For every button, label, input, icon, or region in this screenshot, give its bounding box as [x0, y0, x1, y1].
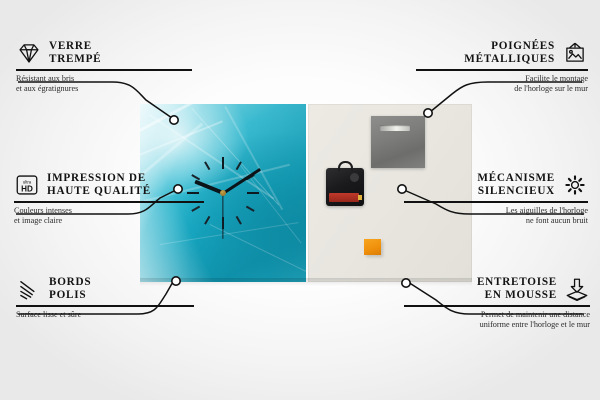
callout-header: MÉCANISME SILENCIEUX — [404, 172, 588, 197]
callout-mecanisme-silencieux: MÉCANISME SILENCIEUX Les aiguilles de l'… — [404, 172, 588, 226]
callout-desc-line1: Facilite le montage — [416, 74, 588, 84]
callout-desc-line1: Les aiguilles de l'horloge — [404, 206, 588, 216]
callout-title: IMPRESSION DE HAUTE QUALITÉ — [47, 172, 151, 197]
callout-bords-polis: BORDS POLIS Surface lisse et sûre — [16, 276, 194, 320]
callout-desc-line2: et image claire — [14, 216, 204, 226]
callout-title: VERRE TREMPÉ — [49, 40, 101, 65]
callout-header: ENTRETOISE EN MOUSSE — [404, 276, 590, 301]
callout-poignees-metalliques: POIGNÉES MÉTALLIQUES Facilite le montag — [416, 40, 588, 94]
callout-rule — [14, 201, 204, 202]
callout-desc-line2: uniforme entre l'horloge et le mur — [404, 320, 590, 330]
gear-icon — [562, 173, 588, 197]
connector-endpoint-verre — [170, 116, 178, 124]
callout-title: POIGNÉES MÉTALLIQUES — [464, 40, 555, 65]
callout-desc-line1: Couleurs intenses — [14, 206, 204, 216]
callout-header: ultra HD IMPRESSION DE HAUTE QUALITÉ — [14, 172, 204, 197]
callout-header: VERRE TREMPÉ — [16, 40, 192, 65]
callout-title: MÉCANISME SILENCIEUX — [477, 172, 555, 197]
callout-desc-line1: Surface lisse et sûre — [16, 310, 194, 320]
polished-edges-icon — [16, 277, 42, 301]
connector-endpoint-poignees — [424, 109, 432, 117]
callout-header: POIGNÉES MÉTALLIQUES — [416, 40, 588, 65]
ultra-hd-icon: ultra HD — [14, 173, 40, 197]
callout-desc-line2: de l'horloge sur le mur — [416, 84, 588, 94]
callout-rule — [404, 305, 590, 306]
callout-impression: ultra HD IMPRESSION DE HAUTE QUALITÉ Cou… — [14, 172, 204, 226]
callout-desc-line2: ne font aucun bruit — [404, 216, 588, 226]
callout-rule — [16, 305, 194, 306]
callout-desc-line1: Permet de maintenir une distance — [404, 310, 590, 320]
foam-spacer-icon — [564, 277, 590, 301]
callout-header: BORDS POLIS — [16, 276, 194, 301]
callout-title: ENTRETOISE EN MOUSSE — [477, 276, 557, 301]
callout-entretoise-mousse: ENTRETOISE EN MOUSSE Permet de maintenir… — [404, 276, 590, 330]
callout-rule — [404, 201, 588, 202]
callout-rule — [416, 69, 588, 70]
wall-mount-icon — [562, 41, 588, 65]
svg-text:HD: HD — [21, 184, 33, 193]
callout-desc-line1: Résistant aux bris — [16, 74, 192, 84]
callout-desc-line2: et aux égratignures — [16, 84, 192, 94]
svg-text:ultra: ultra — [23, 179, 32, 184]
callout-rule — [16, 69, 192, 70]
infographic-canvas: VERRE TREMPÉ Résistant aux bris et aux é… — [0, 0, 600, 400]
callout-title: BORDS POLIS — [49, 276, 91, 301]
diamond-icon — [16, 41, 42, 65]
callout-verre-trempe: VERRE TREMPÉ Résistant aux bris et aux é… — [16, 40, 192, 94]
